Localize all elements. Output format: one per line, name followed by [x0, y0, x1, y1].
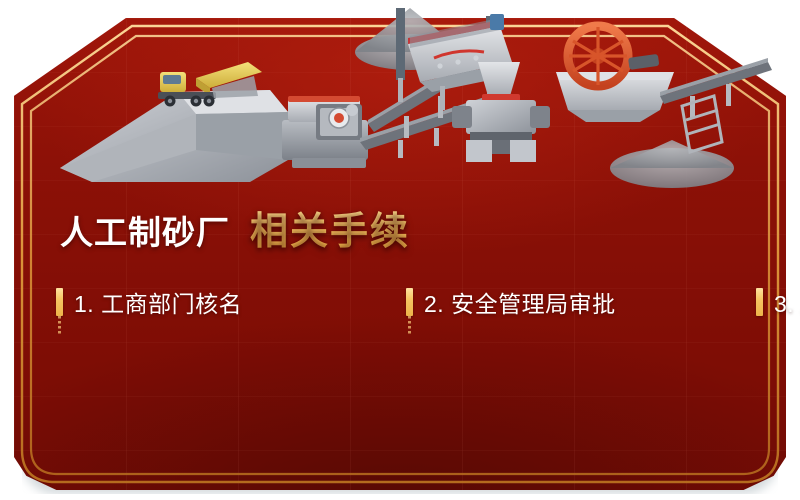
poster-root: 人工制砂厂 相关手续 1. 工商部门核名 2. 安全管理局审批 3. 工商部门办…	[0, 0, 800, 500]
sand-plant-illustration	[0, 0, 800, 200]
list-item-label: 1. 工商部门核名	[74, 285, 242, 319]
page-title: 人工制砂厂 相关手续	[60, 200, 410, 254]
list-item-label: 3. 工商部门办理营业执照	[774, 285, 800, 319]
procedure-checklist: 1. 工商部门核名 2. 安全管理局审批 3. 工商部门办理营业执照 4. 国土…	[56, 272, 756, 452]
title-accent: 相关手续	[250, 200, 410, 255]
list-item-label: 2. 安全管理局审批	[424, 285, 616, 319]
bullet-bar-icon	[756, 288, 763, 316]
list-item[interactable]: 2. 安全管理局审批	[406, 272, 756, 332]
bullet-bar-icon	[406, 288, 413, 316]
dotted-connector-icon	[408, 316, 411, 334]
list-item[interactable]: 3. 工商部门办理营业执照	[756, 272, 800, 332]
bullet-bar-icon	[56, 288, 63, 316]
dotted-connector-icon	[58, 316, 61, 334]
list-item[interactable]: 1. 工商部门核名	[56, 272, 406, 332]
title-primary: 人工制砂厂	[60, 206, 230, 254]
